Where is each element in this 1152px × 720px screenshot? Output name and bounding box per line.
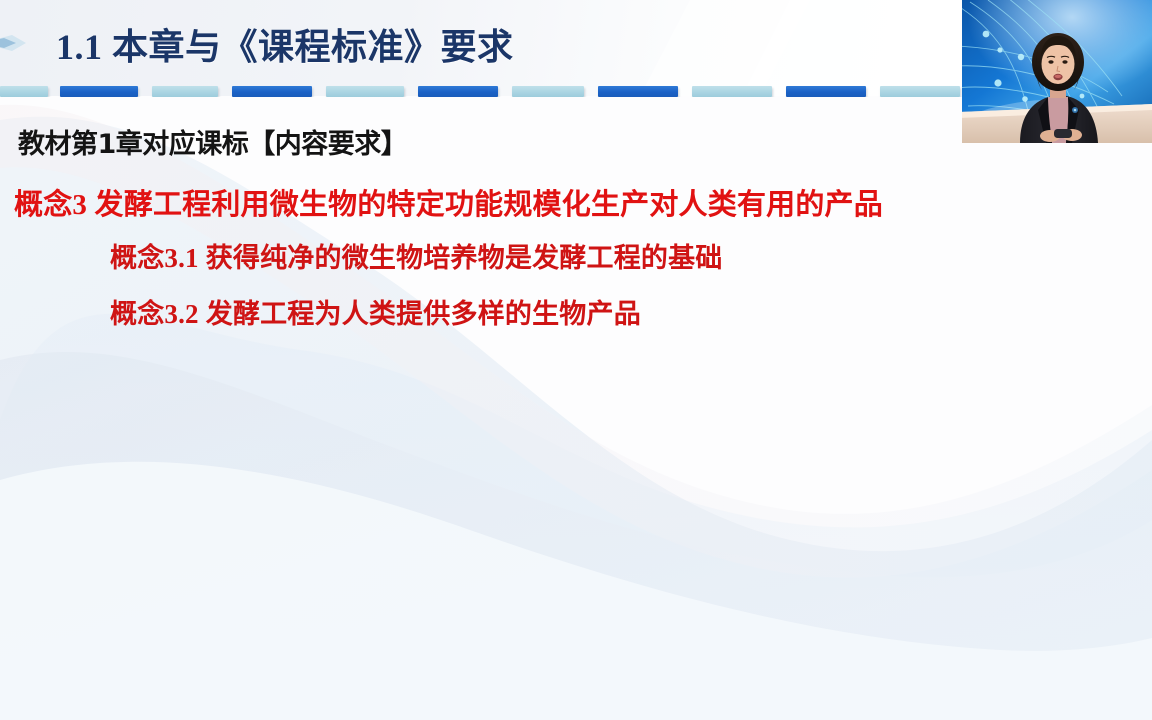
dash-segment bbox=[786, 86, 866, 97]
dash-segment bbox=[692, 86, 772, 97]
page-title: 1.1 本章与《课程标准》要求 bbox=[56, 18, 514, 70]
concept-line-sub-2: 概念3.2 发酵工程为人类提供多样的生物产品 bbox=[110, 292, 641, 331]
presenter-video-frame bbox=[962, 0, 1152, 143]
dash-segment bbox=[152, 86, 218, 97]
corner-accent-icon bbox=[0, 33, 26, 53]
slide-canvas: 1.1 本章与《课程标准》要求 bbox=[0, 0, 1152, 720]
dash-segment bbox=[880, 86, 960, 97]
presenter-video-inset[interactable] bbox=[962, 0, 1152, 143]
dash-segment bbox=[232, 86, 312, 97]
concept-line-main: 概念3 发酵工程利用微生物的特定功能规模化生产对人类有用的产品 bbox=[14, 181, 883, 223]
dash-segment bbox=[418, 86, 498, 97]
dash-segment bbox=[598, 86, 678, 97]
dash-segment bbox=[512, 86, 584, 97]
section-heading: 教材第1章对应课标【内容要求】 bbox=[18, 122, 407, 161]
concept-line-sub-1: 概念3.1 获得纯净的微生物培养物是发酵工程的基础 bbox=[110, 236, 723, 275]
dash-segment bbox=[60, 86, 138, 97]
dash-segment bbox=[326, 86, 404, 97]
dash-segment bbox=[0, 86, 48, 97]
decorative-dash-rule bbox=[0, 85, 962, 97]
